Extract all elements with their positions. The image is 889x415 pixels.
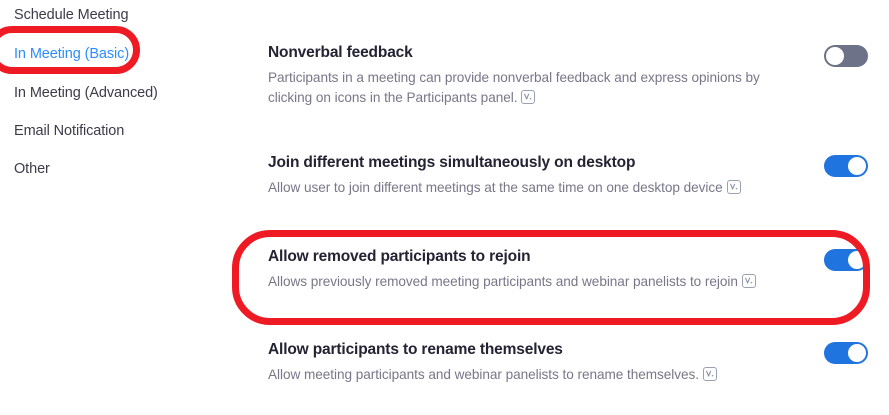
toggle-knob [848,344,866,362]
sidebar-item-in-meeting-advanced[interactable]: In Meeting (Advanced) [14,83,158,103]
setting-description: Allow user to join different meetings at… [268,178,778,200]
sidebar-item-label: In Meeting (Basic) [14,46,129,62]
setting-description-text: Allow meeting participants and webinar p… [268,367,699,382]
setting-description: Allow meeting participants and webinar p… [268,365,778,387]
sidebar-item-other[interactable]: Other [14,159,50,179]
modified-v-badge-icon [703,367,717,387]
setting-row-join-different-meetings: Join different meetings simultaneously o… [268,152,868,200]
setting-toggle-allow-participants-to-rename[interactable] [824,342,868,364]
setting-title: Nonverbal feedback [268,42,788,64]
setting-title: Join different meetings simultaneously o… [268,152,788,174]
setting-description: Allows previously removed meeting partic… [268,272,778,294]
setting-description-text: Allows previously removed meeting partic… [268,274,738,289]
setting-toggle-join-different-meetings[interactable] [824,155,868,177]
setting-row-allow-participants-to-rename: Allow participants to rename themselves … [268,339,868,387]
toggle-knob [848,251,866,269]
sidebar-item-in-meeting-basic[interactable]: In Meeting (Basic) [14,44,129,64]
sidebar-item-label: Other [14,161,50,177]
toggle-knob [848,157,866,175]
sidebar-item-label: Schedule Meeting [14,7,128,23]
sidebar-item-label: Email Notification [14,123,124,139]
sidebar-item-schedule-meeting[interactable]: Schedule Meeting [14,5,128,25]
setting-toggle-allow-removed-participants-to-rejoin[interactable] [824,249,868,271]
setting-title: Allow removed participants to rejoin [268,246,788,268]
sidebar-item-email-notification[interactable]: Email Notification [14,121,124,141]
modified-v-badge-icon [521,90,535,110]
setting-description-text: Participants in a meeting can provide no… [268,70,760,105]
toggle-knob [826,47,844,65]
setting-description-text: Allow user to join different meetings at… [268,180,723,195]
setting-description: Participants in a meeting can provide no… [268,68,778,109]
modified-v-badge-icon [727,180,741,200]
setting-row-nonverbal-feedback: Nonverbal feedback Participants in a mee… [268,42,868,109]
sidebar-item-label: In Meeting (Advanced) [14,85,158,101]
settings-list: Nonverbal feedback Participants in a mee… [268,0,868,415]
setting-toggle-nonverbal-feedback[interactable] [824,45,868,67]
setting-row-allow-removed-participants-to-rejoin: Allow removed participants to rejoin All… [268,246,868,294]
setting-title: Allow participants to rename themselves [268,339,788,361]
modified-v-badge-icon [742,274,756,294]
settings-page: Schedule Meeting In Meeting (Basic) In M… [0,0,889,415]
settings-sidebar: Schedule Meeting In Meeting (Basic) In M… [0,0,230,415]
